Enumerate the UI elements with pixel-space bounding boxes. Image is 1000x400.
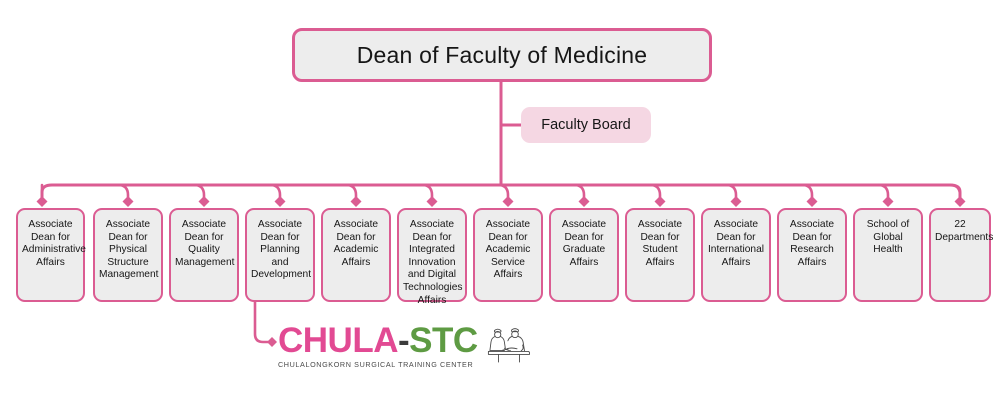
logo-text-wrap: CHULA-STC CHULALONGKORN SURGICAL TRAININ… [278,324,478,369]
node-unit-student-affairs[interactable]: Associate Dean for Student Affairs [625,208,695,302]
drop-line-7 [432,185,508,200]
drop-line-12 [812,185,888,200]
logo-word-chula: CHULA [278,321,398,360]
marker-10 [731,196,742,207]
drop-line-3 [128,185,204,200]
drop-line-10 [660,185,736,200]
node-unit-label: Associate Dean for Academic Affairs [327,219,385,269]
drop-line-8 [508,185,584,200]
node-unit-administrative-affairs[interactable]: Associate Dean for Administrative Affair… [16,208,85,302]
drop-line-11 [736,185,812,200]
marker-7 [503,196,514,207]
node-unit-label: Associate Dean for Academic Service Affa… [479,219,537,282]
node-unit-label: Associate Dean for International Affairs [707,219,765,269]
node-dean-of-faculty[interactable]: Dean of Faculty of Medicine [292,28,712,82]
node-unit-physical-structure-management[interactable]: Associate Dean for Physical Structure Ma… [93,208,163,302]
node-dean-label: Dean of Faculty of Medicine [357,42,648,69]
marker-1 [37,196,48,207]
drop-line-2 [52,185,128,200]
marker-9 [655,196,666,207]
bus-line [42,185,960,198]
marker-4 [275,196,286,207]
logo-connector-marker [267,337,277,347]
drop-line-6 [356,185,432,200]
node-unit-label: 22 Departments [935,219,985,244]
node-unit-academic-affairs[interactable]: Associate Dean for Academic Affairs [321,208,391,302]
logo-word-dash: - [398,321,409,360]
logo-connector-line [255,302,272,342]
logo-word-stc: STC [409,321,478,360]
marker-8 [579,196,590,207]
marker-5 [351,196,362,207]
node-unit-planning-and-development[interactable]: Associate Dean for Planning and Developm… [245,208,315,302]
node-unit-quality-management[interactable]: Associate Dean for Quality Management [169,208,239,302]
marker-11 [807,196,818,207]
marker-6 [427,196,438,207]
node-unit-research-affairs[interactable]: Associate Dean for Research Affairs [777,208,847,302]
node-faculty-board-label: Faculty Board [541,117,630,133]
chula-stc-logo[interactable]: CHULA-STC CHULALONGKORN SURGICAL TRAININ… [278,318,508,374]
node-unit-22-departments[interactable]: 22 Departments [929,208,991,302]
marker-2 [123,196,134,207]
logo-subtitle: CHULALONGKORN SURGICAL TRAINING CENTER [278,360,478,369]
node-unit-label: Associate Dean for Research Affairs [783,219,841,269]
surgeons-operating-icon [485,324,533,368]
drop-line-13 [888,185,960,200]
node-unit-academic-service-affairs[interactable]: Associate Dean for Academic Service Affa… [473,208,543,302]
node-unit-label: Associate Dean for Integrated Innovation… [403,219,461,307]
drop-line-5 [280,185,356,200]
node-unit-label: Associate Dean for Quality Management [175,219,233,269]
node-unit-graduate-affairs[interactable]: Associate Dean for Graduate Affairs [549,208,619,302]
marker-13 [955,196,966,207]
node-faculty-board[interactable]: Faculty Board [521,107,651,143]
node-unit-integrated-innovation-digital-technologies[interactable]: Associate Dean for Integrated Innovation… [397,208,467,302]
drop-markers [37,196,966,207]
org-chart: Dean of Faculty of Medicine Faculty Boar… [0,0,1000,400]
node-unit-label: Associate Dean for Physical Structure Ma… [99,219,157,282]
marker-12 [883,196,894,207]
node-unit-label: Associate Dean for Student Affairs [631,219,689,269]
node-unit-international-affairs[interactable]: Associate Dean for International Affairs [701,208,771,302]
node-unit-label: Associate Dean for Planning and Developm… [251,219,309,282]
node-unit-label: Associate Dean for Administrative Affair… [22,219,79,269]
drop-line-4 [204,185,280,200]
node-unit-school-of-global-health[interactable]: School of Global Health [853,208,923,302]
node-unit-label: Associate Dean for Graduate Affairs [555,219,613,269]
marker-3 [199,196,210,207]
node-unit-label: School of Global Health [859,219,917,257]
drop-line-9 [584,185,660,200]
logo-wordmark: CHULA-STC [278,324,478,358]
